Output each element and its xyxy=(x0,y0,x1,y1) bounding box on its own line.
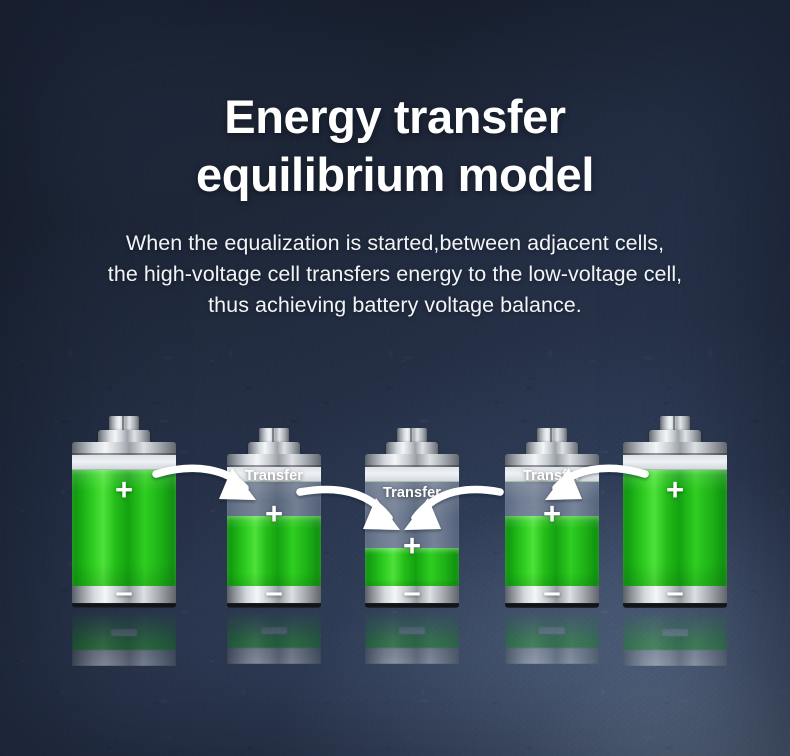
battery-label-band xyxy=(623,455,727,470)
battery-shoulder-band xyxy=(72,442,176,455)
battery-cell-2: Transfer + – xyxy=(227,428,321,608)
battery-minus-symbol: – xyxy=(666,576,683,607)
battery-plus-symbol: + xyxy=(115,474,133,505)
battery-minus-symbol: – xyxy=(115,576,132,607)
battery-shoulder-band xyxy=(227,454,321,467)
poster-canvas: Energy transfer equilibrium model When t… xyxy=(0,0,790,756)
battery-cell-5: + – xyxy=(623,416,727,608)
battery-plus-symbol: + xyxy=(403,530,421,561)
battery-plus-symbol: + xyxy=(666,474,684,505)
battery-shoulder-band xyxy=(505,454,599,467)
battery-reflection xyxy=(72,608,176,666)
battery-minus-symbol: – xyxy=(403,576,420,607)
battery-plus-symbol: + xyxy=(265,498,283,529)
battery-reflection xyxy=(227,608,321,664)
battery-plus-symbol: + xyxy=(543,498,561,529)
battery-minus-symbol: – xyxy=(265,576,282,607)
transfer-label: Transfer xyxy=(383,485,441,501)
battery-reflection xyxy=(365,608,459,664)
battery-cell-4: Transfer + – xyxy=(505,428,599,608)
battery-minus-symbol: – xyxy=(543,576,560,607)
battery-shoulder-band xyxy=(365,454,459,467)
battery-reflection xyxy=(623,608,727,666)
battery-shoulder-band xyxy=(623,442,727,455)
battery-reflection xyxy=(505,608,599,664)
battery-cell-1: + – xyxy=(72,416,176,608)
battery-label-band xyxy=(365,467,459,482)
transfer-label: Transfer xyxy=(523,468,581,484)
transfer-label: Transfer xyxy=(245,468,303,484)
battery-cell-3: Transfer + – xyxy=(365,428,459,608)
battery-label-band xyxy=(72,455,176,470)
battery-equalization-diagram: + – Transfer + – xyxy=(0,0,790,756)
